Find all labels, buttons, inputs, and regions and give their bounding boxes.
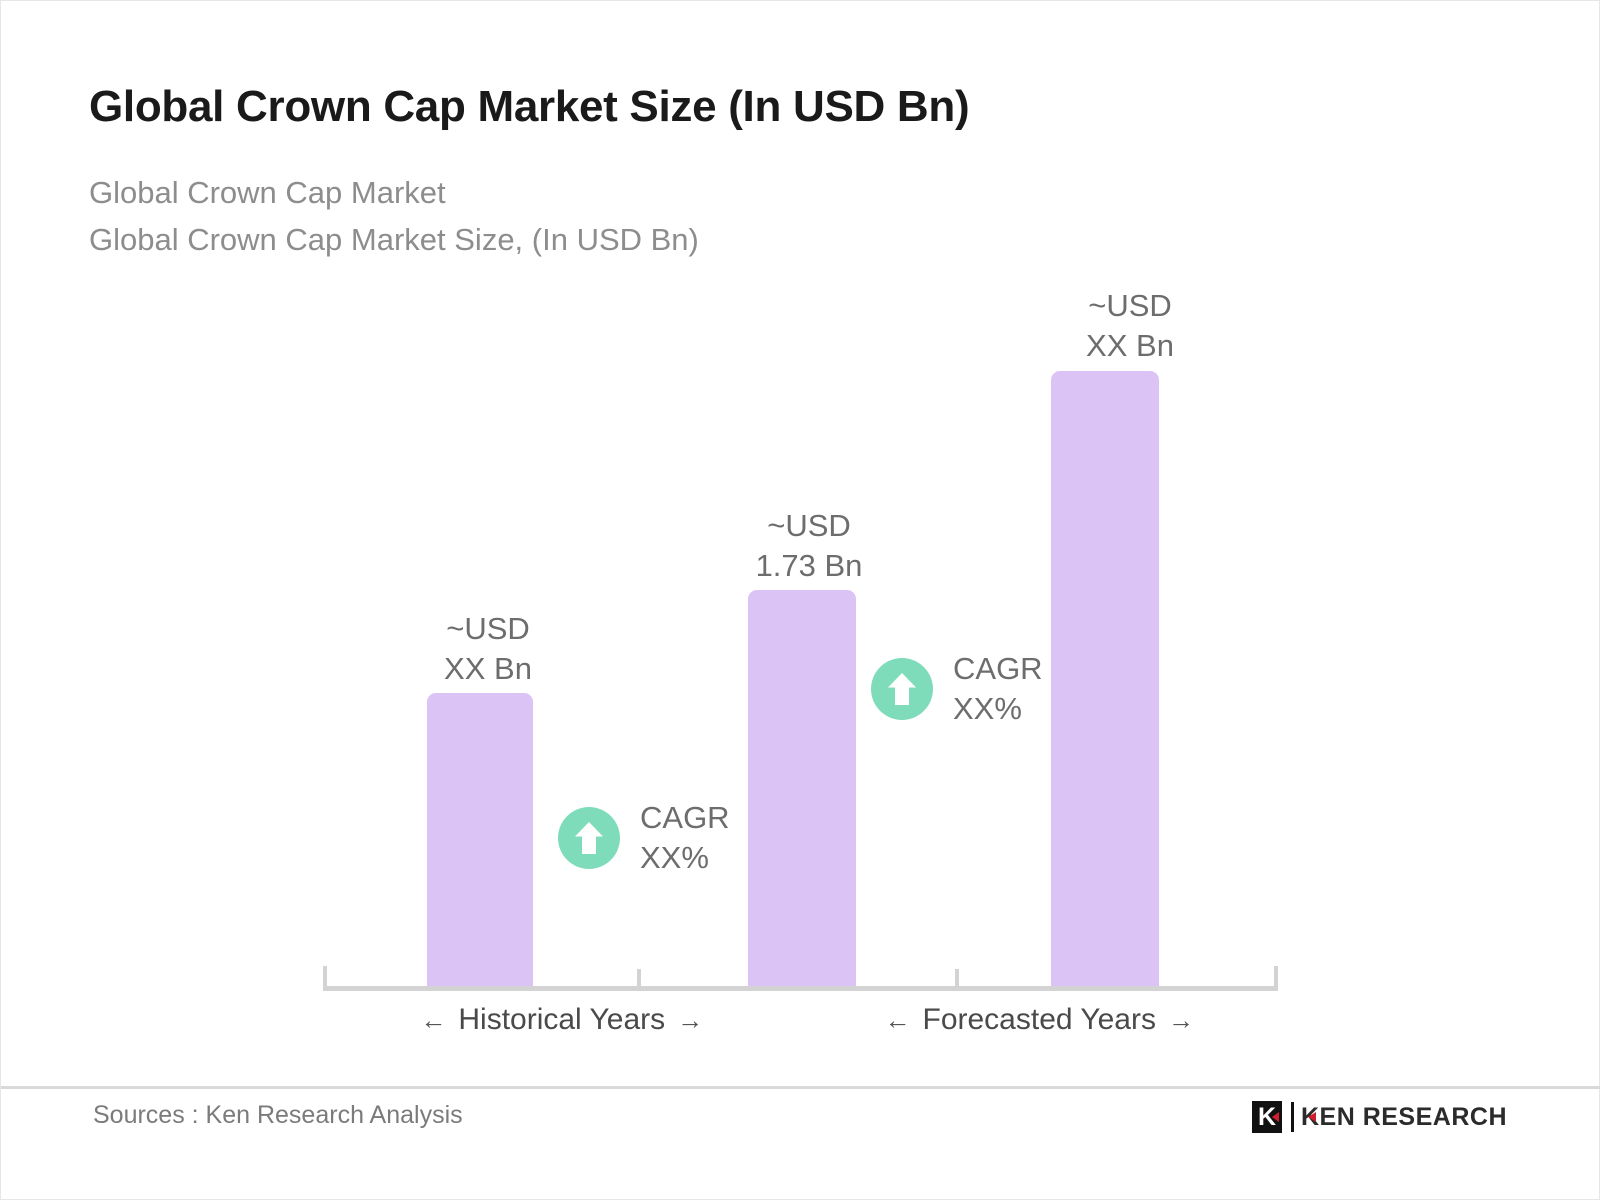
cagr-text-forecast: CAGR XX% bbox=[953, 649, 1043, 729]
axis-tick-end bbox=[1274, 966, 1278, 991]
bar-value-label-1-line2: XX Bn bbox=[393, 649, 583, 689]
cagr-value-historical: XX% bbox=[640, 838, 730, 878]
bar-value-label-3-line2: XX Bn bbox=[1035, 326, 1225, 366]
period-label-historical: ← Historical Years → bbox=[323, 1003, 801, 1037]
bar-value-label-2: ~USD 1.73 Bn bbox=[714, 506, 904, 586]
bar-chart: ~USD XX Bn ~USD 1.73 Bn ~USD XX Bn CAGR … bbox=[1, 1, 1600, 1061]
bar-value-label-3-line1: ~USD bbox=[1035, 286, 1225, 326]
cagr-marker-historical: CAGR XX% bbox=[558, 798, 730, 878]
bar-value-label-1: ~USD XX Bn bbox=[393, 609, 583, 689]
axis-tick-start bbox=[323, 966, 327, 991]
axis-tick-divider-1 bbox=[637, 969, 641, 991]
arrow-left-icon: ← bbox=[885, 1007, 911, 1033]
period-label-historical-text: Historical Years bbox=[458, 1003, 665, 1037]
cagr-marker-forecast: CAGR XX% bbox=[871, 649, 1043, 729]
bar-value-label-1-line1: ~USD bbox=[393, 609, 583, 649]
brand-mark-icon: K bbox=[1252, 1101, 1282, 1133]
brand-wordmark-text: KEN RESEARCH bbox=[1301, 1103, 1507, 1131]
cagr-label-historical: CAGR bbox=[640, 798, 730, 838]
arrow-up-icon bbox=[871, 658, 933, 720]
period-label-row: ← Historical Years → ← Forecasted Years … bbox=[323, 1003, 1278, 1037]
bar-value-label-3: ~USD XX Bn bbox=[1035, 286, 1225, 366]
arrow-right-icon: → bbox=[1168, 1007, 1194, 1033]
bar-value-label-2-line1: ~USD bbox=[714, 506, 904, 546]
source-note: Sources : Ken Research Analysis bbox=[93, 1101, 463, 1130]
brand-wordmark-accent-triangle bbox=[1308, 1112, 1316, 1122]
brand-wordmark: KEN RESEARCH bbox=[1301, 1103, 1507, 1132]
bar-historical[interactable] bbox=[427, 693, 533, 986]
brand-mark-accent-triangle bbox=[1272, 1112, 1279, 1122]
ken-research-logo: K KEN RESEARCH bbox=[1252, 1099, 1507, 1135]
arrow-up-icon bbox=[558, 807, 620, 869]
axis-tick-divider-2 bbox=[955, 969, 959, 991]
footer-divider bbox=[1, 1086, 1600, 1089]
arrow-right-icon: → bbox=[677, 1007, 703, 1033]
brand-divider-bar bbox=[1291, 1102, 1294, 1132]
cagr-text-historical: CAGR XX% bbox=[640, 798, 730, 878]
bar-forecast[interactable] bbox=[1051, 371, 1159, 986]
bar-value-label-2-line2: 1.73 Bn bbox=[714, 546, 904, 586]
cagr-label-forecast: CAGR bbox=[953, 649, 1043, 689]
period-label-forecasted-text: Forecasted Years bbox=[923, 1003, 1156, 1037]
cagr-value-forecast: XX% bbox=[953, 689, 1043, 729]
bar-current[interactable] bbox=[748, 590, 856, 986]
period-label-forecasted: ← Forecasted Years → bbox=[801, 1003, 1279, 1037]
slide-canvas: Global Crown Cap Market Size (In USD Bn)… bbox=[0, 0, 1600, 1200]
x-axis-line bbox=[323, 986, 1278, 991]
arrow-left-icon: ← bbox=[420, 1007, 446, 1033]
